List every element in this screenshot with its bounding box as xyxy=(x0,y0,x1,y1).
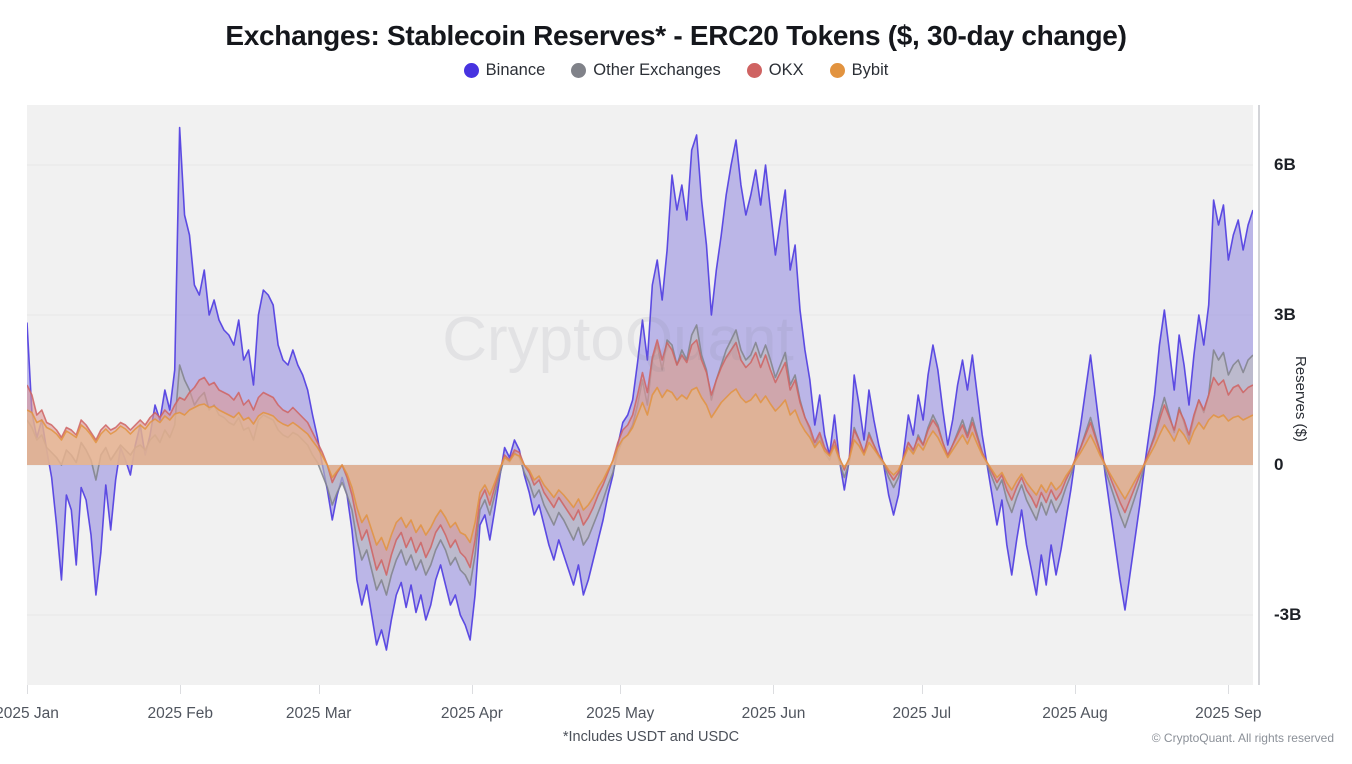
x-tick-mark xyxy=(773,685,774,694)
x-tick-label: 2025 Jun xyxy=(742,705,806,723)
legend-label: Other Exchanges xyxy=(593,61,721,80)
x-tick-label: 2025 Aug xyxy=(1042,705,1108,723)
y-tick-label: -3B xyxy=(1274,605,1301,625)
y-tick-label: 3B xyxy=(1274,305,1296,325)
x-tick-mark xyxy=(620,685,621,694)
plot-area: CryptoQuant xyxy=(27,105,1253,685)
chart-page: Exchanges: Stablecoin Reserves* - ERC20 … xyxy=(0,0,1352,764)
x-tick-mark xyxy=(1075,685,1076,694)
footnote-includes: *Includes USDT and USDC xyxy=(0,729,1327,745)
series-area xyxy=(27,388,1253,551)
legend-item-okx[interactable]: OKX xyxy=(747,61,804,80)
legend-item-binance[interactable]: Binance xyxy=(464,61,546,80)
legend-label: OKX xyxy=(769,61,804,80)
page-title: Exchanges: Stablecoin Reserves* - ERC20 … xyxy=(0,20,1352,52)
x-tick-mark xyxy=(1228,685,1229,694)
x-tick-mark xyxy=(180,685,181,694)
x-tick-label: 2025 Sep xyxy=(1195,705,1261,723)
x-tick-label: 2025 Jul xyxy=(892,705,951,723)
y-axis-line xyxy=(1258,105,1260,685)
legend-item-bybit[interactable]: Bybit xyxy=(830,61,889,80)
x-tick-mark xyxy=(922,685,923,694)
x-tick-label: 2025 Apr xyxy=(441,705,503,723)
x-tick-label: 2025 Jan xyxy=(0,705,59,723)
y-tick-label: 0 xyxy=(1274,455,1283,475)
legend-swatch-icon xyxy=(464,63,479,78)
x-tick-label: 2025 May xyxy=(586,705,654,723)
legend-label: Binance xyxy=(486,61,546,80)
footnote-copyright: © CryptoQuant. All rights reserved xyxy=(1152,731,1334,745)
chart-legend: BinanceOther ExchangesOKXBybit xyxy=(0,61,1352,80)
legend-swatch-icon xyxy=(571,63,586,78)
series-bybit xyxy=(27,388,1253,551)
x-tick-mark xyxy=(27,685,28,694)
legend-label: Bybit xyxy=(852,61,889,80)
x-tick-label: 2025 Feb xyxy=(148,705,214,723)
legend-swatch-icon xyxy=(747,63,762,78)
legend-item-other-exchanges[interactable]: Other Exchanges xyxy=(571,61,721,80)
area-chart-svg xyxy=(27,105,1253,685)
x-tick-label: 2025 Mar xyxy=(286,705,351,723)
y-axis-label: Reserves ($) xyxy=(1292,356,1309,442)
x-tick-mark xyxy=(319,685,320,694)
y-tick-label: 6B xyxy=(1274,155,1296,175)
legend-swatch-icon xyxy=(830,63,845,78)
x-tick-mark xyxy=(472,685,473,694)
